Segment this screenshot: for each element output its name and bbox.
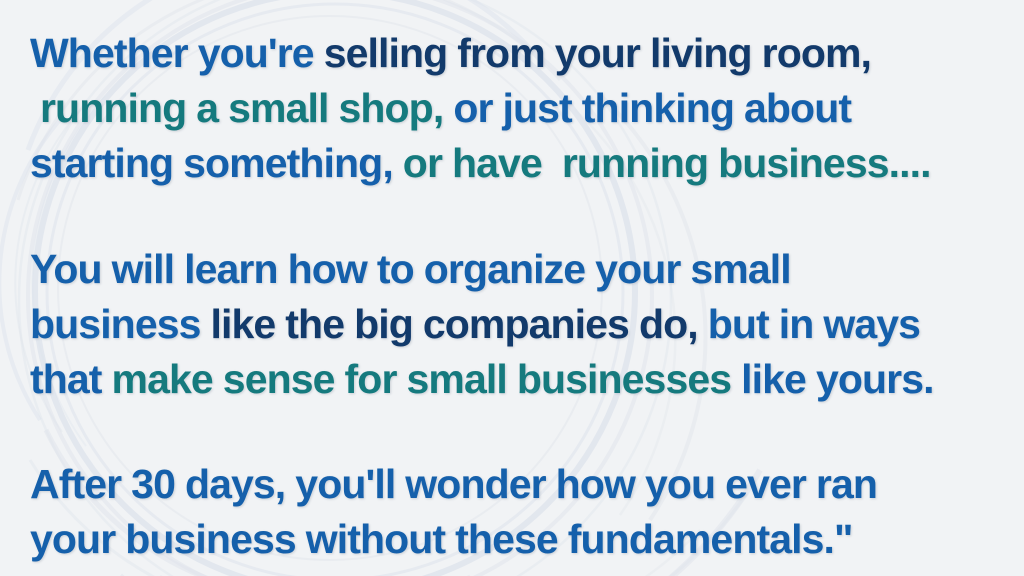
text-segment: running a small shop, <box>30 85 443 131</box>
text-segment: like yours. <box>731 356 933 402</box>
text-segment: selling from your living room, <box>324 30 871 76</box>
paragraph-2: You will learn how to organize your smal… <box>30 242 1006 407</box>
text-segment: make sense for small businesses <box>112 356 732 402</box>
text-segment: or have running business.... <box>393 140 931 186</box>
slide-canvas: Whether you're selling from your living … <box>0 0 1024 576</box>
text-segment: Whether you're <box>30 30 324 76</box>
quote-text-block: Whether you're selling from your living … <box>0 0 1024 576</box>
text-segment: After 30 days, you'll wonder how you eve… <box>30 461 877 562</box>
text-segment: like the big companies do, <box>211 301 698 347</box>
paragraph-3: After 30 days, you'll wonder how you eve… <box>30 457 1006 567</box>
paragraph-1: Whether you're selling from your living … <box>30 26 1006 191</box>
